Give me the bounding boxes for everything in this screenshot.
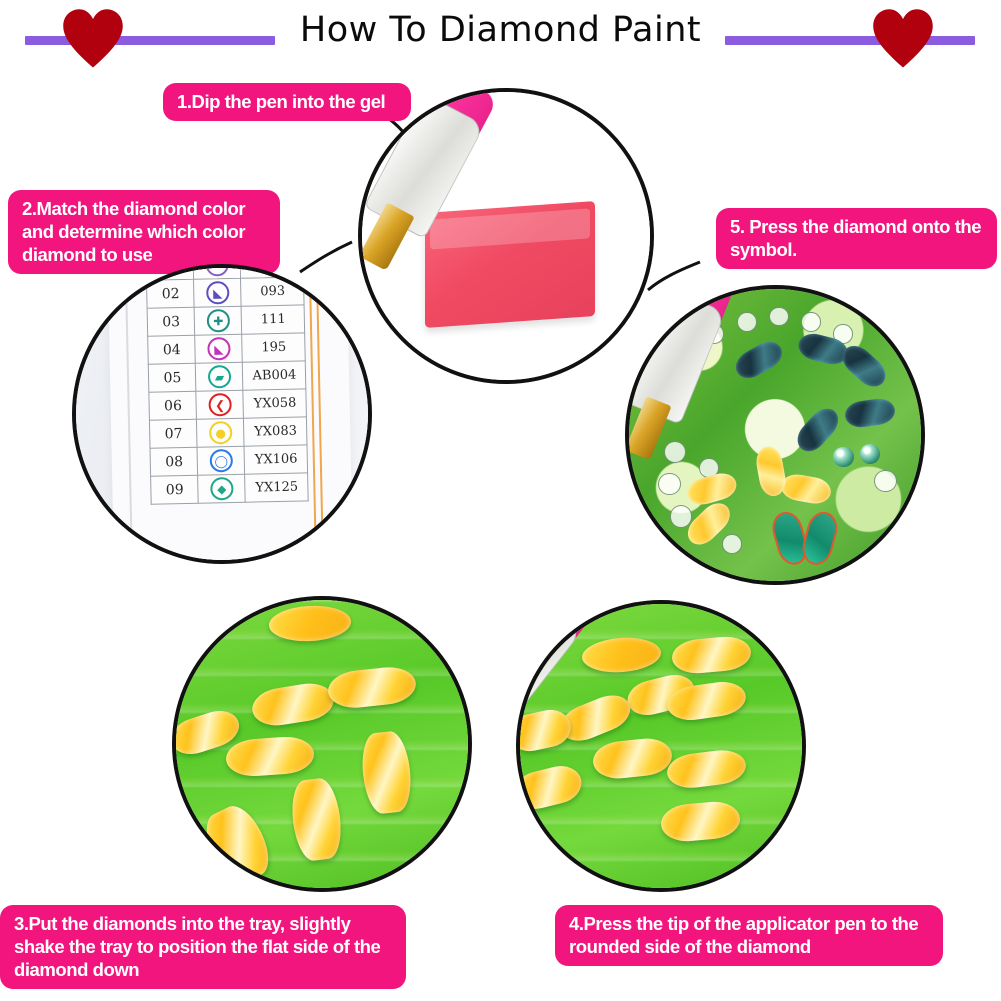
chart-row-code: YX058 <box>243 389 306 418</box>
triangle-symbol: ◣ <box>206 281 229 304</box>
symbol-glyph: ✚ <box>213 315 223 327</box>
placed-diamond <box>837 340 891 393</box>
step-2-label: 2.Match the diamond color and determine … <box>8 190 280 274</box>
chart-row-number: 07 <box>150 420 198 449</box>
symbol-glyph: ◣ <box>214 343 223 355</box>
symbol-glyph: •• <box>210 264 224 271</box>
chart-row: 09◆YX125 <box>151 473 309 504</box>
color-code-table: ••02802◣09303✚11104◣19505▰AB00406❮YX0580… <box>146 264 309 505</box>
gel-wax-block <box>425 201 595 328</box>
chart-paper: ••02802◣09303✚11104◣19505▰AB00406❮YX0580… <box>107 264 354 564</box>
plus-symbol: ✚ <box>207 309 230 332</box>
ring-symbol: ◯ <box>197 447 245 476</box>
target-diamond <box>592 736 674 781</box>
step-1-photo <box>358 88 654 384</box>
chart-row-code: 093 <box>241 277 304 306</box>
chart-row-number: 08 <box>150 448 198 477</box>
canvas-symbol <box>737 312 757 332</box>
canvas-symbol <box>769 307 789 327</box>
tray-diamond <box>581 635 662 675</box>
symbol-glyph: ◆ <box>217 483 226 495</box>
symbol-glyph: ◣ <box>213 287 222 299</box>
double-dot-symbol: •• <box>193 264 241 280</box>
chart-row: 02◣093 <box>147 277 305 308</box>
chart-row-code: YX125 <box>245 473 308 502</box>
chart-row: 04◣195 <box>148 333 306 364</box>
step-5-label: 5. Press the diamond onto the symbol. <box>716 208 997 269</box>
leaf-symbol: ◆ <box>210 477 233 500</box>
triangle-symbol: ◣ <box>195 335 243 364</box>
tray-diamond <box>516 706 574 755</box>
step-4-label: 4.Press the tip of the applicator pen to… <box>555 905 943 966</box>
symbol-glyph: ◯ <box>214 455 228 467</box>
dot-ring-symbol: ● <box>197 419 245 448</box>
placed-diamond <box>798 508 841 568</box>
dot-ring-symbol: ● <box>209 421 232 444</box>
chart-row-code: 111 <box>242 305 305 334</box>
symbol-glyph: ❮ <box>215 399 225 411</box>
chart-row-number: 03 <box>147 308 195 337</box>
symbol-glyph: ▰ <box>215 371 224 383</box>
tray-scene <box>176 600 468 888</box>
target-diamond <box>753 445 787 498</box>
tray-diamond <box>359 730 414 815</box>
tray-diamond <box>197 800 277 890</box>
tray-diamond <box>224 735 314 778</box>
chart-row-number: 05 <box>149 364 197 393</box>
step-5-photo <box>625 285 925 585</box>
canvas-symbol <box>874 470 896 492</box>
symbol-glyph: ● <box>215 427 226 439</box>
capsule-symbol: ▰ <box>196 363 244 392</box>
ring-symbol: ◯ <box>210 449 233 472</box>
tray-diamond <box>269 604 352 643</box>
tray-diamond <box>665 747 748 790</box>
plus-symbol: ✚ <box>195 307 243 336</box>
step-3-photo <box>172 596 472 892</box>
chevron-left-symbol: ❮ <box>196 391 244 420</box>
triangle-symbol: ◣ <box>207 337 230 360</box>
chart-row-number: 09 <box>151 476 199 505</box>
page-header: How To Diamond Paint <box>0 0 1001 78</box>
pen-tip <box>358 203 415 272</box>
step-4-photo <box>516 600 806 892</box>
placed-diamond <box>860 444 880 464</box>
tray-diamond <box>671 635 753 676</box>
chart-row: 07●YX083 <box>150 417 308 448</box>
pickup-scene <box>520 604 802 888</box>
chart-row: 05▰AB004 <box>149 361 307 392</box>
yellow-diamond <box>685 470 740 509</box>
chart-row-number: 02 <box>147 280 195 309</box>
step-3-label: 3.Put the diamonds into the tray, slight… <box>0 905 406 989</box>
placed-diamond <box>843 397 896 430</box>
step-2-photo: ••02802◣09303✚11104◣19505▰AB00406❮YX0580… <box>72 264 372 564</box>
tray-diamond <box>516 761 586 813</box>
triangle-symbol: ◣ <box>194 279 242 308</box>
chart-margin-line <box>124 264 133 564</box>
chart-row-number: 04 <box>148 336 196 365</box>
chart-row-code: YX083 <box>244 417 307 446</box>
canvas-symbol <box>722 534 742 554</box>
capsule-symbol: ▰ <box>208 365 231 388</box>
chart-orange-line <box>316 264 325 564</box>
chart-row: 08◯YX106 <box>150 445 308 476</box>
chevron-left-symbol: ❮ <box>208 393 231 416</box>
page-title: How To Diamond Paint <box>0 10 1001 50</box>
leaf-symbol: ◆ <box>198 475 246 504</box>
placed-diamond <box>833 447 853 467</box>
canvas-symbol <box>670 505 692 527</box>
chart-row-code: 195 <box>242 333 305 362</box>
gel-scene <box>362 92 650 380</box>
double-dot-symbol: •• <box>205 264 228 277</box>
chart-row-number: 06 <box>149 392 197 421</box>
color-chart-scene: ••02802◣09303✚11104◣19505▰AB00406❮YX0580… <box>76 268 368 560</box>
chart-row: 06❮YX058 <box>149 389 307 420</box>
pen-barrel <box>626 290 726 425</box>
canvas-symbol <box>658 473 680 495</box>
canvas-scene <box>629 289 921 581</box>
chart-row: 03✚111 <box>147 305 305 336</box>
yellow-diamond <box>779 472 832 506</box>
tray-diamond <box>326 665 417 711</box>
tray-diamond <box>249 680 336 730</box>
tray-diamond <box>660 799 742 843</box>
chart-row-code: YX106 <box>245 445 308 474</box>
canvas-symbol <box>801 312 821 332</box>
tray-diamond <box>288 776 344 862</box>
placed-diamond <box>731 337 787 385</box>
chart-row-code: AB004 <box>243 361 306 390</box>
